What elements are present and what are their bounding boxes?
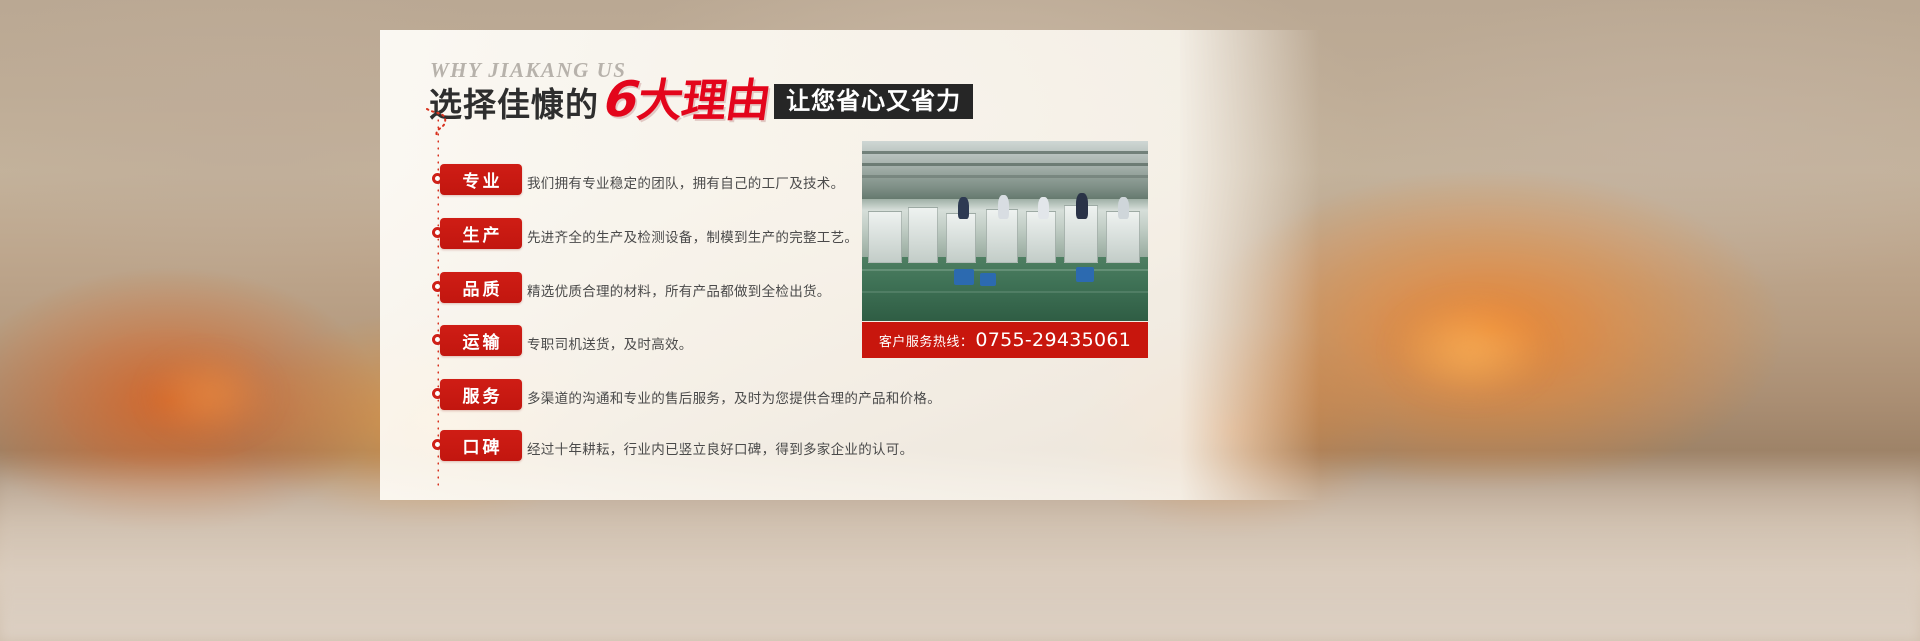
- photo-beam: [862, 151, 1148, 154]
- hotline-label: 客户服务热线：: [879, 331, 974, 350]
- photo-worker: [958, 197, 969, 219]
- reason-tag: 服务: [440, 379, 522, 410]
- photo-beam: [862, 175, 1148, 178]
- photo-floor-line: [862, 269, 1148, 271]
- reason-description: 先进齐全的生产及检测设备，制模到生产的完整工艺。: [527, 226, 858, 246]
- photo-beam: [862, 163, 1148, 166]
- reason-tag: 品质: [440, 272, 522, 303]
- photo-worker: [1118, 197, 1129, 219]
- photo-blue-crate: [954, 269, 974, 285]
- photo-blue-crate: [1076, 267, 1094, 282]
- title-tail-badge: 让您省心又省力: [774, 84, 973, 119]
- content-panel-fade: [1180, 30, 1320, 500]
- reason-tag: 口碑: [440, 430, 522, 461]
- reason-description: 多渠道的沟通和专业的售后服务，及时为您提供合理的产品和价格。: [527, 387, 941, 407]
- dotted-vertical-line: [437, 110, 439, 490]
- photo-worker: [1038, 197, 1049, 219]
- photo-machine: [946, 213, 976, 263]
- reason-tag: 运输: [440, 325, 522, 356]
- photo-machine: [908, 207, 938, 263]
- reason-description: 我们拥有专业稳定的团队，拥有自己的工厂及技术。: [527, 172, 844, 192]
- dotted-curve-decoration: [425, 108, 461, 138]
- reason-tag: 生产: [440, 218, 522, 249]
- reason-description: 精选优质合理的材料，所有产品都做到全检出货。: [527, 280, 831, 300]
- photo-floor: [862, 257, 1148, 321]
- reason-description: 经过十年耕耘，行业内已竖立良好口碑，得到多家企业的认可。: [527, 438, 913, 458]
- hotline-banner[interactable]: 客户服务热线： 0755-29435061: [862, 322, 1148, 358]
- page-title: 选择佳慷的 6大理由 让您省心又省力: [429, 77, 973, 122]
- photo-floor-line: [862, 291, 1148, 293]
- photo-machine: [868, 211, 902, 263]
- reason-tag: 专业: [440, 164, 522, 195]
- factory-photo: [862, 141, 1148, 321]
- photo-worker: [1076, 193, 1088, 219]
- hotline-number: 0755-29435061: [975, 329, 1131, 351]
- title-highlight: 6大理由: [602, 77, 773, 122]
- reason-description: 专职司机送货，及时高效。: [527, 333, 693, 353]
- photo-worker: [998, 195, 1009, 219]
- title-highlight-text: 大理由: [634, 74, 773, 127]
- photo-blue-crate: [980, 273, 996, 286]
